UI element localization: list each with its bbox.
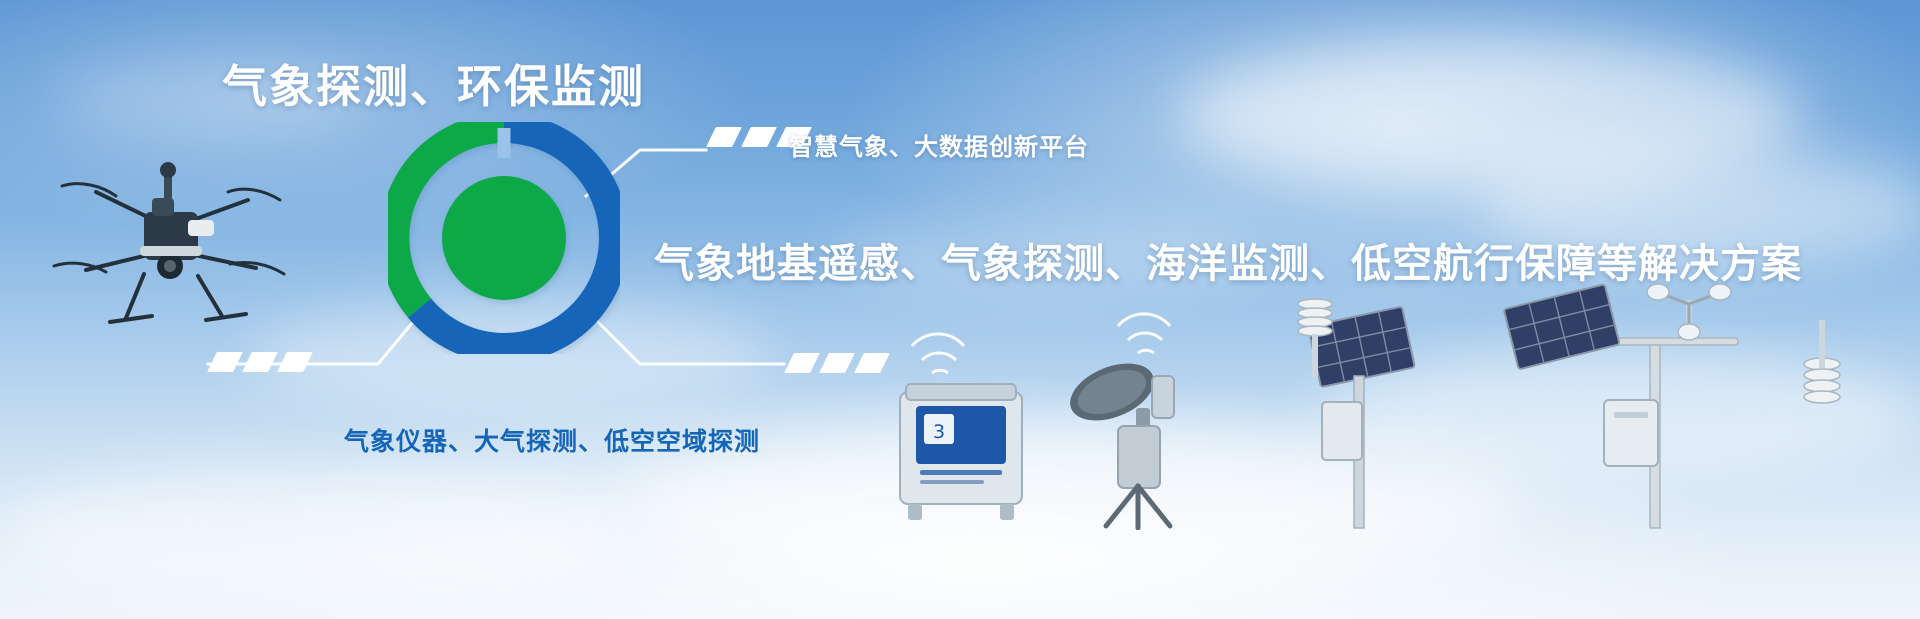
laser-radar-cabinet: 3 <box>900 384 1022 520</box>
drone-icon <box>40 150 290 340</box>
dash-accent-left <box>212 352 308 372</box>
anemometer-weather-mast <box>1504 284 1840 528</box>
signal-waves-icon <box>912 334 964 373</box>
tagline-top: 智慧气象、大数据创新平台 <box>789 127 1089 162</box>
donut-core <box>442 176 566 300</box>
anemometer-icon <box>1647 284 1731 340</box>
svg-text:3: 3 <box>933 421 945 443</box>
satellite-dish-tripod <box>1062 352 1174 528</box>
marketing-banner: 气象探测、环保监测 <box>0 0 1920 619</box>
cloud-wisp <box>0 470 620 600</box>
radiation-shield-icon <box>1804 320 1840 403</box>
tagline-bottom: 气象仪器、大气探测、低空空域探测 <box>344 422 760 458</box>
solar-powered-weather-station <box>1298 299 1415 528</box>
signal-waves-icon <box>1118 314 1170 353</box>
equipment-group: 3 <box>860 280 1920 530</box>
ring-segment-blue-bottomleft <box>420 308 505 348</box>
donut-diagram <box>388 122 620 354</box>
donut-svg <box>388 122 620 354</box>
page-title: 气象探测、环保监测 <box>222 50 645 115</box>
cloud-wisp <box>1180 40 1800 190</box>
